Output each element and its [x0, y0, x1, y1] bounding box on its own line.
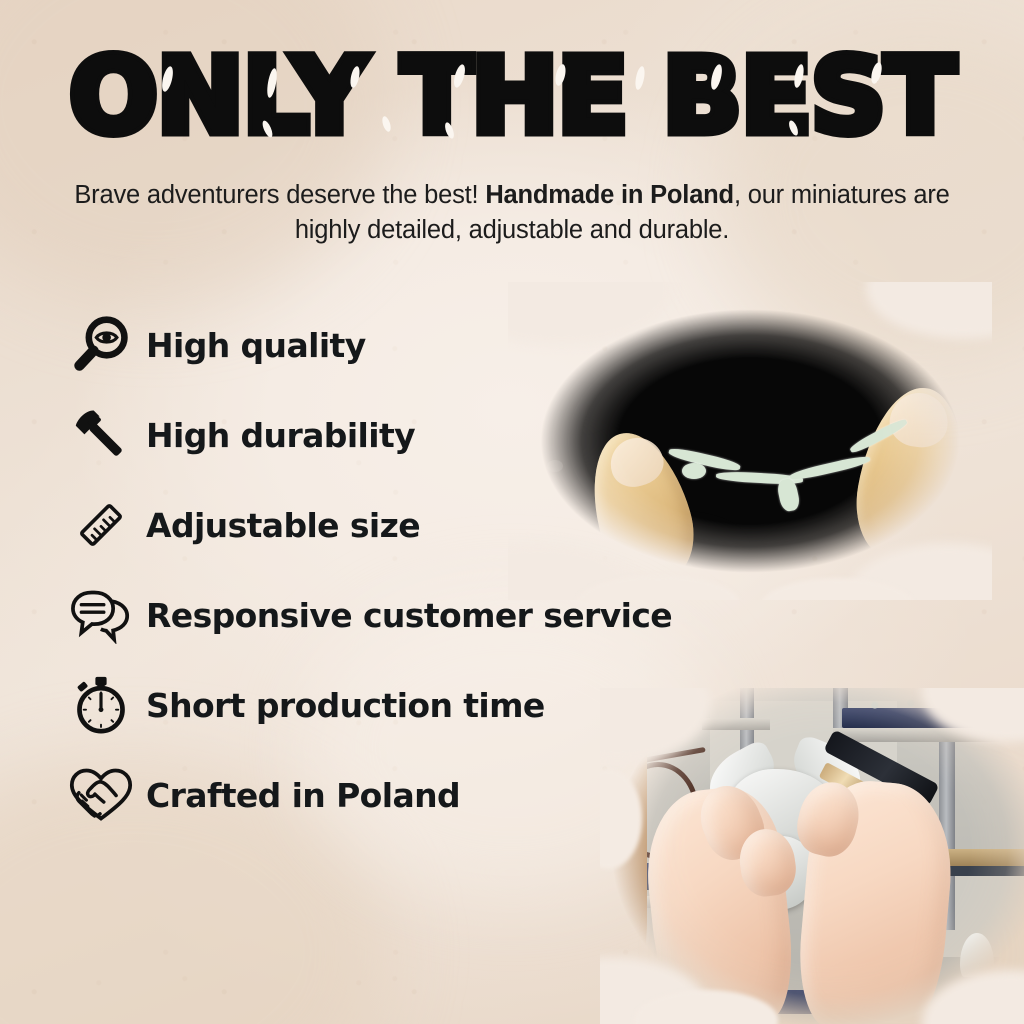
subtitle-lead: Brave adventurers deserve the best! [74, 181, 478, 209]
feature-label: High durability [146, 416, 415, 455]
feature-label: Responsive customer service [146, 596, 672, 635]
handshake-heart-icon [62, 756, 140, 834]
feature-item-adjustable-size: Adjustable size [62, 480, 782, 570]
feature-label: Short production time [146, 686, 545, 725]
miniature-parts [846, 695, 990, 715]
feature-item-high-quality: High quality [62, 300, 782, 390]
promo-banner: ONLY THE BEST Brave adventurers deserve … [0, 0, 1024, 1024]
ink-speck [924, 333, 938, 351]
subtitle: Brave adventurers deserve the best! Hand… [60, 178, 964, 247]
subtitle-emphasis: Handmade in Poland [485, 181, 734, 209]
feature-list: High quality High durability [62, 300, 782, 840]
feature-item-high-durability: High durability [62, 390, 782, 480]
feature-item-crafted-in-poland: Crafted in Poland [62, 750, 782, 840]
feature-label: High quality [146, 326, 366, 365]
feature-label: Crafted in Poland [146, 776, 460, 815]
page-title: ONLY THE BEST [0, 44, 1024, 148]
magnifier-eye-icon [62, 306, 140, 384]
feature-item-short-production-time: Short production time [62, 660, 782, 750]
feature-item-responsive-customer-service: Responsive customer service [62, 570, 782, 660]
shelf-board [833, 728, 1024, 742]
stopwatch-icon [62, 666, 140, 744]
ruler-icon [62, 486, 140, 564]
hammer-icon [62, 396, 140, 474]
feature-label: Adjustable size [146, 506, 420, 545]
small-miniature [982, 970, 1007, 997]
speech-bubbles-icon [62, 576, 140, 654]
